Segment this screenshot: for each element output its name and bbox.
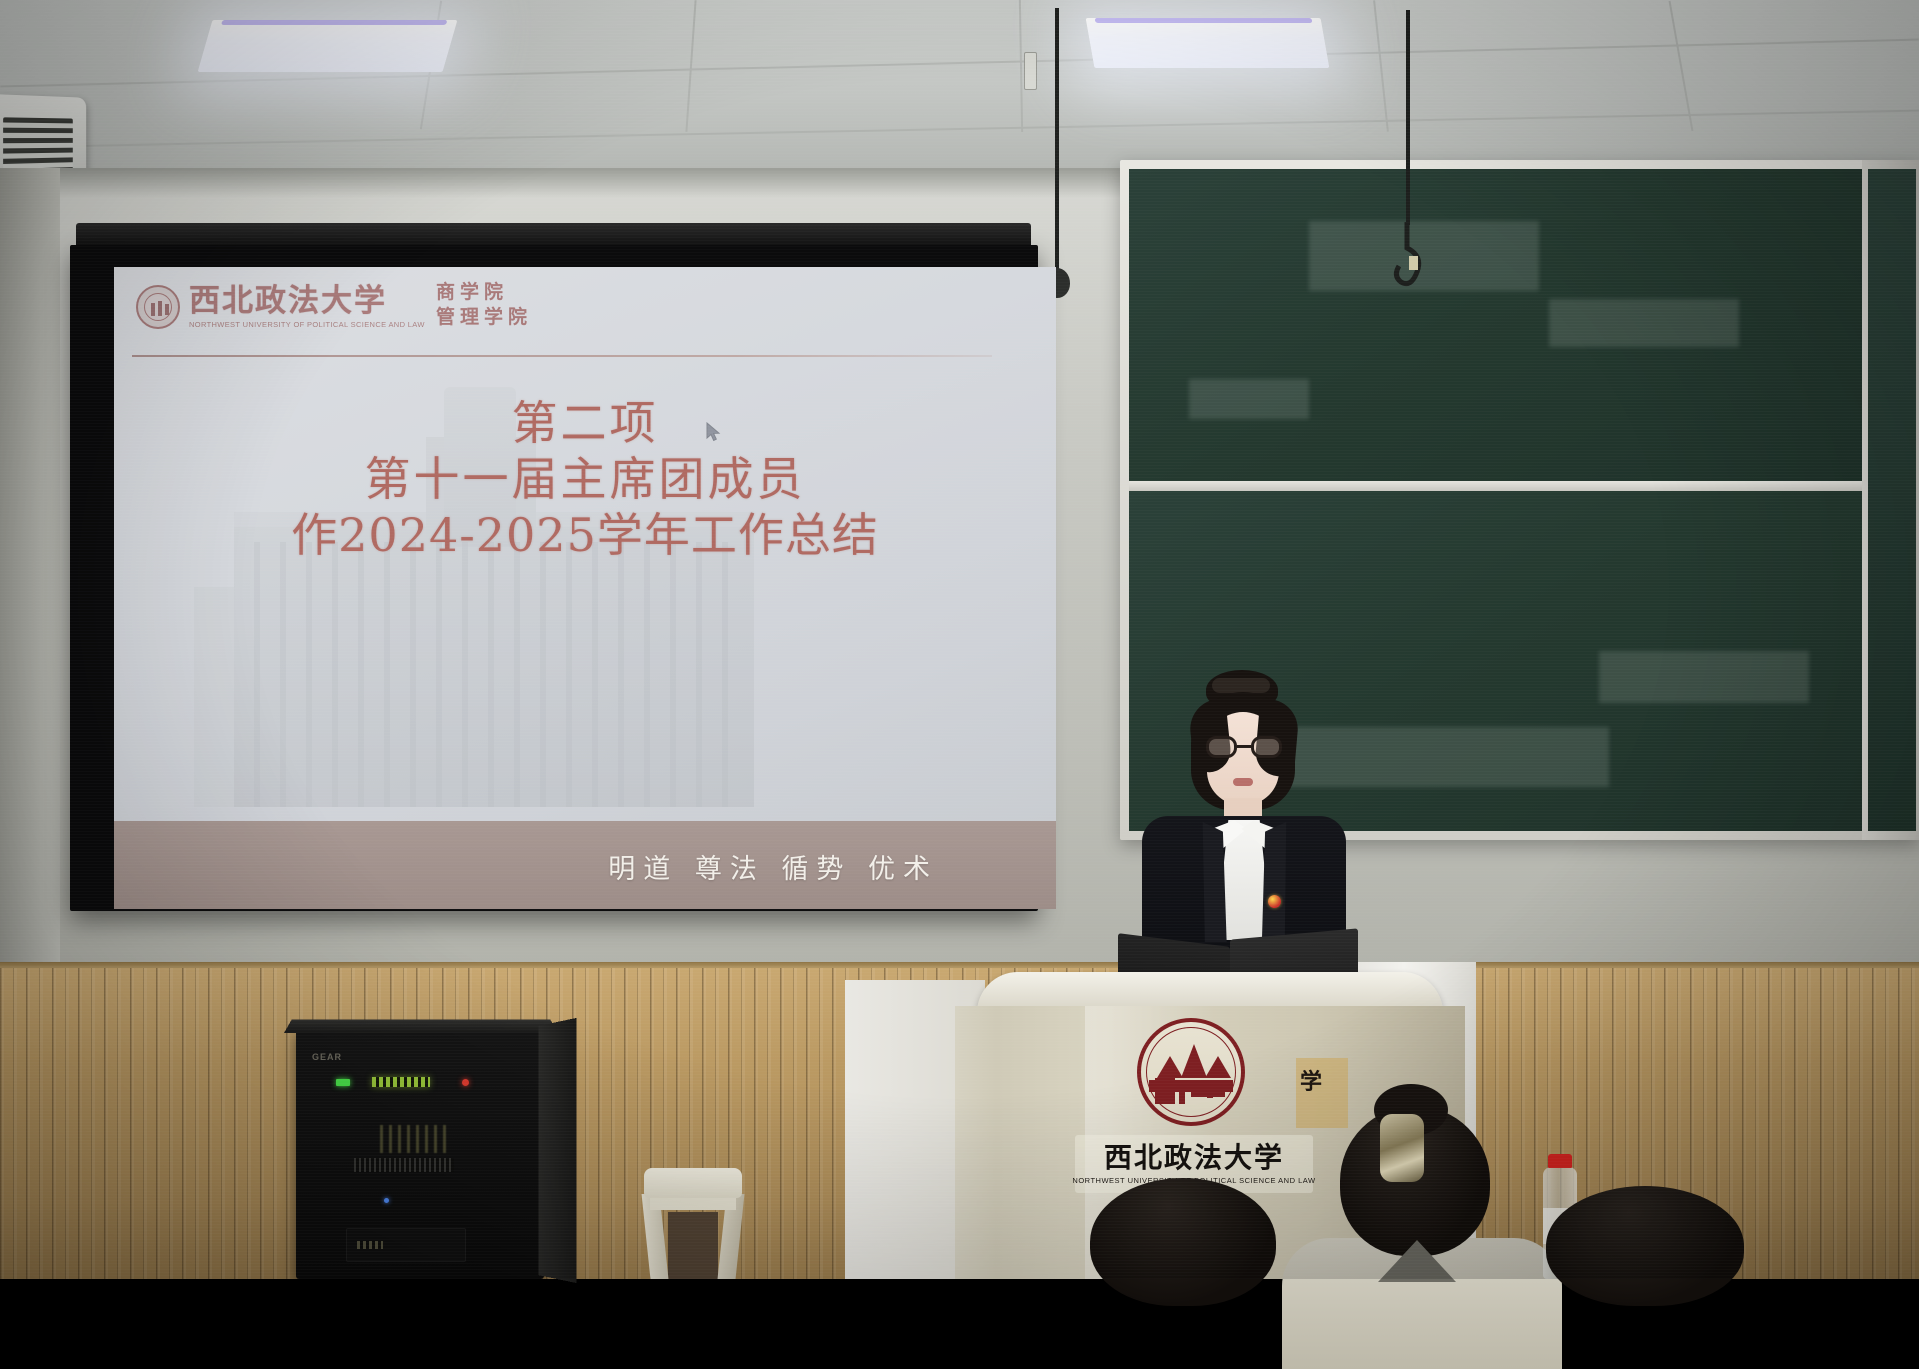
rack-lower-drawer[interactable] bbox=[346, 1228, 466, 1262]
stool-seat bbox=[644, 1168, 742, 1198]
university-seal-icon bbox=[136, 285, 180, 329]
screen-border: 西北政法大学 NORTHWEST UNIVERSITY OF POLITICAL… bbox=[70, 245, 1038, 911]
plastic-stool[interactable] bbox=[638, 1168, 748, 1279]
mouse-pointer-icon bbox=[706, 422, 722, 442]
rack-brand-label: GEAR bbox=[312, 1052, 342, 1062]
university-emblem-icon bbox=[1137, 1018, 1245, 1126]
rack-top-panel bbox=[284, 1019, 558, 1032]
ceiling bbox=[0, 0, 1919, 175]
projection-screen: 西北政法大学 NORTHWEST UNIVERSITY OF POLITICAL… bbox=[40, 235, 1060, 925]
college-name-block: 商学院 管理学院 bbox=[436, 281, 532, 330]
chalkboard-divider bbox=[1129, 481, 1911, 491]
rack-display-readout bbox=[372, 1077, 430, 1087]
mouth bbox=[1233, 778, 1253, 786]
university-name-cn: 西北政法大学 bbox=[189, 285, 425, 318]
audience-member-left bbox=[1068, 1178, 1298, 1279]
chalkboard-right-section bbox=[1862, 160, 1919, 840]
university-name-en: NORTHWEST UNIVERSITY OF POLITICAL SCIENC… bbox=[189, 320, 425, 329]
podium-name-cn: 西北政法大学 bbox=[1104, 1144, 1284, 1172]
slide-header-divider bbox=[132, 355, 992, 357]
hair-band bbox=[1212, 678, 1270, 693]
status-led-blue-icon bbox=[384, 1198, 389, 1203]
audience-member-right bbox=[1530, 1186, 1770, 1279]
slide-motto: 明道 尊法 循势 优术 bbox=[608, 847, 938, 886]
cable-clip bbox=[1024, 52, 1037, 90]
ac-grill-icon bbox=[3, 117, 73, 171]
university-logo: 西北政法大学 NORTHWEST UNIVERSITY OF POLITICAL… bbox=[136, 285, 425, 329]
status-led-red-icon bbox=[462, 1079, 469, 1086]
classroom-scene: 西北政法大学 NORTHWEST UNIVERSITY OF POLITICAL… bbox=[0, 0, 1919, 1279]
audience-head bbox=[1546, 1186, 1744, 1306]
ceiling-light-left bbox=[198, 20, 458, 72]
glasses-icon bbox=[1206, 736, 1282, 758]
audience-member-center bbox=[1282, 1090, 1562, 1279]
audience-head bbox=[1090, 1178, 1276, 1306]
rack-internal-equipment bbox=[380, 1125, 452, 1153]
ceiling-cable-left bbox=[1055, 8, 1059, 270]
ceiling-light-right bbox=[1086, 18, 1330, 68]
slide-title-line-1: 第二项 bbox=[114, 395, 1056, 451]
hair-clip-ornament bbox=[1380, 1114, 1424, 1182]
presentation-slide: 西北政法大学 NORTHWEST UNIVERSITY OF POLITICAL… bbox=[114, 267, 1056, 909]
college-line-2: 管理学院 bbox=[436, 306, 532, 330]
hanging-hook-icon bbox=[1383, 222, 1427, 306]
rack-vent-grille bbox=[354, 1158, 454, 1172]
slide-title: 第二项 第十一届主席团成员 作2024-2025学年工作总结 bbox=[114, 395, 1056, 563]
speaker-person bbox=[1134, 670, 1354, 1000]
ceiling-cable-right bbox=[1406, 10, 1410, 225]
lapel-pin-badge bbox=[1268, 895, 1281, 908]
slide-title-line-3: 作2024-2025学年工作总结 bbox=[114, 507, 1056, 563]
slide-footer-band: 明道 尊法 循势 优术 bbox=[114, 821, 1056, 909]
chalkboard-panel-top bbox=[1129, 169, 1911, 481]
rack-side-panel bbox=[539, 1018, 577, 1283]
slide-header: 西北政法大学 NORTHWEST UNIVERSITY OF POLITICAL… bbox=[114, 267, 1056, 359]
power-led-green-icon bbox=[336, 1079, 350, 1086]
av-equipment-rack[interactable]: GEAR bbox=[296, 1030, 544, 1279]
college-line-1: 商学院 bbox=[436, 281, 532, 305]
bottle-cap-icon bbox=[1548, 1154, 1572, 1168]
stool-shadow-gap bbox=[668, 1212, 718, 1279]
slide-title-line-2: 第十一届主席团成员 bbox=[114, 451, 1056, 507]
